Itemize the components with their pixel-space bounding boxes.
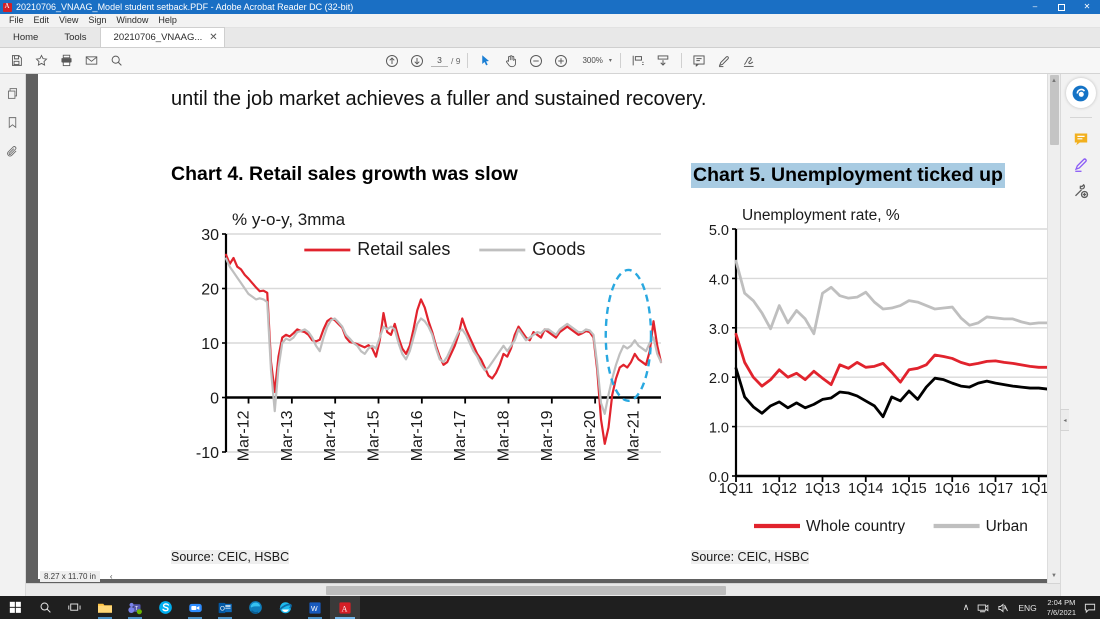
zoom-meetings-icon[interactable] bbox=[180, 596, 210, 619]
svg-text:3.0: 3.0 bbox=[709, 322, 729, 338]
svg-text:W: W bbox=[311, 605, 318, 612]
svg-text:Mar-16: Mar-16 bbox=[409, 410, 426, 461]
menu-edit[interactable]: Edit bbox=[29, 14, 55, 27]
action-center-icon[interactable] bbox=[1081, 602, 1098, 614]
svg-text:2.0: 2.0 bbox=[709, 371, 729, 387]
select-tool-icon[interactable] bbox=[473, 49, 498, 73]
page-total-label: / 9 bbox=[451, 56, 460, 66]
tab-tools[interactable]: Tools bbox=[51, 27, 99, 47]
chart5-figure: 5.04.03.02.01.00.01Q111Q121Q131Q141Q151Q… bbox=[688, 199, 1060, 534]
svg-text:-10: -10 bbox=[196, 445, 219, 462]
chart4-figure: 3020100-10Mar-12Mar-13Mar-14Mar-15Mar-16… bbox=[171, 204, 671, 544]
microsoft-edge-icon[interactable] bbox=[240, 596, 270, 619]
attachment-icon[interactable] bbox=[3, 142, 23, 160]
network-icon[interactable] bbox=[973, 602, 993, 614]
svg-text:1Q16: 1Q16 bbox=[935, 481, 970, 497]
svg-text:Mar-18: Mar-18 bbox=[495, 410, 512, 461]
document-horizontal-scrollbar[interactable] bbox=[26, 583, 1060, 596]
toolbar: / 9 300% ▾ bbox=[0, 48, 1100, 74]
chart4-source: Source: CEIC, HSBC bbox=[171, 550, 289, 564]
tray-expand-icon[interactable]: ∧ bbox=[959, 602, 974, 613]
page-display-icon[interactable] bbox=[651, 49, 676, 73]
svg-text:30: 30 bbox=[201, 227, 219, 244]
page-navigation: / 9 bbox=[431, 54, 460, 67]
chart5-title[interactable]: Chart 5. Unemployment ticked up bbox=[691, 163, 1005, 188]
highlight-icon[interactable] bbox=[712, 49, 737, 73]
skype-icon[interactable] bbox=[150, 596, 180, 619]
title-bar: 20210706_VNAAG_Model student setback.PDF… bbox=[0, 0, 1100, 14]
tab-document-label: 20210706_VNAAG... bbox=[114, 32, 203, 43]
share-icon[interactable] bbox=[1066, 78, 1096, 108]
svg-text:Mar-17: Mar-17 bbox=[452, 410, 469, 461]
svg-text:Mar-14: Mar-14 bbox=[322, 410, 339, 461]
page-thumbnails-icon[interactable] bbox=[3, 84, 23, 102]
svg-text:Mar-21: Mar-21 bbox=[625, 410, 642, 461]
acrobat-window: 20210706_VNAAG_Model student setback.PDF… bbox=[0, 0, 1100, 619]
right-tools-rail: ◂ bbox=[1060, 74, 1100, 596]
svg-text:Urban: Urban bbox=[986, 518, 1028, 534]
email-icon[interactable] bbox=[79, 49, 104, 73]
zoom-out-icon[interactable] bbox=[523, 49, 548, 73]
windows-taskbar: T O bbox=[0, 596, 1100, 619]
toolbar-separator-2 bbox=[620, 53, 621, 68]
svg-text:0: 0 bbox=[210, 391, 219, 408]
outlook-icon[interactable]: O bbox=[210, 596, 240, 619]
menu-view[interactable]: View bbox=[54, 14, 83, 27]
menu-sign[interactable]: Sign bbox=[83, 14, 111, 27]
left-navigation-rail bbox=[0, 74, 26, 596]
status-expand-icon[interactable]: ‹ bbox=[110, 572, 113, 581]
document-status-bar: 8.27 x 11.70 in ‹ bbox=[26, 569, 113, 583]
restore-button[interactable] bbox=[1048, 0, 1074, 14]
page-size-label: 8.27 x 11.70 in bbox=[40, 571, 100, 582]
file-explorer-icon[interactable] bbox=[90, 596, 120, 619]
zoom-level-value: 300% bbox=[582, 56, 602, 65]
print-icon[interactable] bbox=[54, 49, 79, 73]
clock-time: 2:04 PM bbox=[1047, 598, 1075, 607]
search-icon[interactable] bbox=[104, 49, 129, 73]
menu-bar: File Edit View Sign Window Help bbox=[0, 14, 1100, 28]
page-number-input[interactable] bbox=[431, 54, 448, 67]
svg-text:Whole country: Whole country bbox=[806, 518, 905, 534]
zoom-in-icon[interactable] bbox=[548, 49, 573, 73]
svg-text:20: 20 bbox=[201, 282, 219, 299]
collapse-rail-button[interactable]: ◂ bbox=[1060, 409, 1069, 431]
window-controls: – ✕ bbox=[1022, 0, 1100, 14]
clock-date: 7/6/2021 bbox=[1047, 608, 1076, 617]
close-button[interactable]: ✕ bbox=[1074, 0, 1100, 14]
svg-text:Mar-19: Mar-19 bbox=[539, 410, 556, 461]
chart4-title: Chart 4. Retail sales growth was slow bbox=[171, 163, 518, 186]
tab-home[interactable]: Home bbox=[0, 27, 51, 47]
scroll-down-icon[interactable]: ▼ bbox=[1051, 573, 1057, 579]
chevron-down-icon: ▾ bbox=[609, 57, 612, 64]
svg-text:Mar-13: Mar-13 bbox=[279, 410, 296, 461]
svg-text:1.0: 1.0 bbox=[709, 421, 729, 437]
svg-text:1Q12: 1Q12 bbox=[762, 481, 797, 497]
svg-text:O: O bbox=[220, 605, 225, 612]
toolbar-separator-3 bbox=[681, 53, 682, 68]
hand-tool-icon[interactable] bbox=[498, 49, 523, 73]
microsoft-teams-icon[interactable]: T bbox=[120, 596, 150, 619]
language-indicator[interactable]: ENG bbox=[1013, 603, 1041, 613]
internet-explorer-icon[interactable] bbox=[270, 596, 300, 619]
chart5-source: Source: CEIC, HSBC bbox=[691, 550, 809, 564]
svg-text:Unemployment rate, %: Unemployment rate, % bbox=[742, 207, 900, 224]
svg-text:1Q15: 1Q15 bbox=[891, 481, 926, 497]
highlighter-tool-icon[interactable] bbox=[1067, 152, 1095, 178]
start-button-icon[interactable] bbox=[0, 596, 30, 619]
svg-text:4.0: 4.0 bbox=[709, 272, 729, 288]
rail-divider bbox=[1070, 117, 1092, 118]
more-tools-icon[interactable] bbox=[1067, 178, 1095, 204]
next-page-icon[interactable] bbox=[404, 49, 429, 73]
svg-text:1Q11: 1Q11 bbox=[719, 481, 753, 497]
volume-icon[interactable] bbox=[993, 602, 1013, 614]
search-taskbar-icon[interactable] bbox=[30, 596, 60, 619]
comment-tool-icon[interactable] bbox=[1067, 126, 1095, 152]
minimize-button[interactable]: – bbox=[1022, 0, 1048, 14]
svg-text:10: 10 bbox=[201, 336, 219, 353]
window-title: 20210706_VNAAG_Model student setback.PDF… bbox=[16, 2, 353, 12]
svg-text:A: A bbox=[342, 604, 348, 613]
hscrollbar-thumb[interactable] bbox=[326, 586, 726, 595]
svg-text:1Q13: 1Q13 bbox=[805, 481, 840, 497]
svg-text:1Q14: 1Q14 bbox=[848, 481, 883, 497]
save-icon[interactable] bbox=[4, 49, 29, 73]
body-paragraph: until the job market achieves a fuller a… bbox=[171, 88, 706, 111]
svg-text:Retail sales: Retail sales bbox=[357, 239, 450, 259]
bookmark-icon[interactable] bbox=[3, 113, 23, 131]
clock[interactable]: 2:04 PM 7/6/2021 bbox=[1042, 598, 1081, 617]
system-tray: ∧ ENG 2:04 PM 7/6/2021 bbox=[959, 596, 1100, 619]
tab-document[interactable]: 20210706_VNAAG... ✕ bbox=[100, 27, 225, 47]
zoom-level-select[interactable]: 300% ▾ bbox=[579, 55, 614, 66]
acrobat-icon bbox=[3, 3, 12, 12]
scroll-up-icon[interactable]: ▲ bbox=[1051, 78, 1057, 84]
menu-help[interactable]: Help bbox=[153, 14, 182, 27]
svg-text:Mar-20: Mar-20 bbox=[582, 410, 599, 461]
document-viewport[interactable]: until the job market achieves a fuller a… bbox=[26, 74, 1060, 596]
task-view-icon[interactable] bbox=[60, 596, 90, 619]
close-icon[interactable]: ✕ bbox=[209, 33, 217, 43]
adobe-acrobat-icon[interactable]: A bbox=[330, 596, 360, 619]
svg-text:Mar-12: Mar-12 bbox=[236, 410, 253, 461]
svg-text:Mar-15: Mar-15 bbox=[366, 410, 383, 461]
svg-text:1Q17: 1Q17 bbox=[978, 481, 1013, 497]
previous-page-icon[interactable] bbox=[379, 49, 404, 73]
toolbar-separator bbox=[467, 53, 468, 68]
microsoft-word-icon[interactable]: W bbox=[300, 596, 330, 619]
fit-page-icon[interactable] bbox=[626, 49, 651, 73]
tab-strip: Home Tools 20210706_VNAAG... ✕ bbox=[0, 28, 1100, 48]
scrollbar-thumb[interactable] bbox=[1050, 75, 1059, 145]
svg-text:% y-o-y, 3mma: % y-o-y, 3mma bbox=[232, 210, 346, 229]
comment-icon[interactable] bbox=[687, 49, 712, 73]
pdf-page: until the job market achieves a fuller a… bbox=[38, 74, 1048, 579]
menu-window[interactable]: Window bbox=[111, 14, 153, 27]
menu-file[interactable]: File bbox=[4, 14, 29, 27]
document-vertical-scrollbar[interactable]: ▲ ▼ bbox=[1047, 74, 1060, 583]
sign-icon[interactable] bbox=[737, 49, 762, 73]
svg-text:5.0: 5.0 bbox=[709, 223, 729, 239]
star-icon[interactable] bbox=[29, 49, 54, 73]
svg-text:Goods: Goods bbox=[532, 239, 585, 259]
